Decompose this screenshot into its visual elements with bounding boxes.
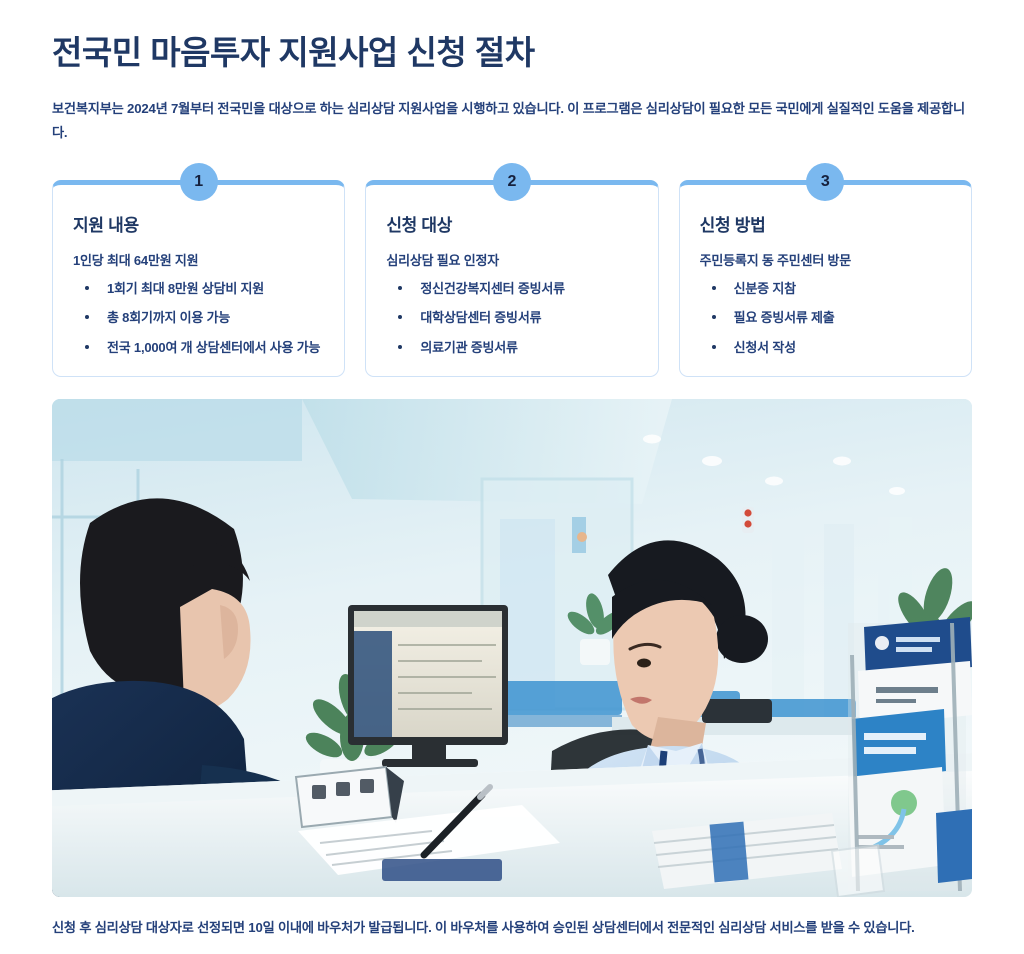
list-item: 1회기 최대 8만원 상담비 지원 [73, 281, 324, 297]
step-number-badge-3: 3 [806, 163, 844, 201]
step-title-2: 신청 대상 [386, 211, 637, 236]
steps-container: 1 지원 내용 1인당 최대 64만원 지원 1회기 최대 8만원 상담비 지원… [52, 180, 972, 377]
intro-paragraph: 보건복지부는 2024년 7월부터 전국민을 대상으로 하는 심리상담 지원사업… [52, 75, 972, 146]
counter-consultation-photo [52, 399, 972, 897]
photo-illustration [52, 399, 972, 897]
page-title: 전국민 마음투자 지원사업 신청 절차 [52, 0, 972, 75]
list-item: 의료기관 증빙서류 [386, 340, 637, 356]
step-list-2: 정신건강복지센터 증빙서류 대학상담센터 증빙서류 의료기관 증빙서류 [386, 281, 637, 356]
step-subtitle-3: 주민등록지 동 주민센터 방문 [700, 250, 951, 269]
step-card-3: 3 신청 방법 주민등록지 동 주민센터 방문 신분증 지참 필요 증빙서류 제… [679, 180, 972, 377]
step-card-2: 2 신청 대상 심리상담 필요 인정자 정신건강복지센터 증빙서류 대학상담센터… [365, 180, 658, 377]
page-root: 전국민 마음투자 지원사업 신청 절차 보건복지부는 2024년 7월부터 전국… [0, 0, 1024, 954]
step-subtitle-2: 심리상담 필요 인정자 [386, 250, 637, 269]
step-title-1: 지원 내용 [73, 211, 324, 236]
step-list-1: 1회기 최대 8만원 상담비 지원 총 8회기까지 이용 가능 전국 1,000… [73, 281, 324, 356]
step-title-3: 신청 방법 [700, 211, 951, 236]
list-item: 전국 1,000여 개 상담센터에서 사용 가능 [73, 340, 324, 356]
list-item: 정신건강복지센터 증빙서류 [386, 281, 637, 297]
desk-monitor [348, 605, 508, 767]
list-item: 대학상담센터 증빙서류 [386, 310, 637, 326]
step-number-badge-2: 2 [493, 163, 531, 201]
step-subtitle-1: 1인당 최대 64만원 지원 [73, 250, 324, 269]
list-item: 필요 증빙서류 제출 [700, 310, 951, 326]
list-item: 신청서 작성 [700, 340, 951, 356]
desk-nameplate [296, 767, 404, 827]
list-item: 총 8회기까지 이용 가능 [73, 310, 324, 326]
step-list-3: 신분증 지참 필요 증빙서류 제출 신청서 작성 [700, 281, 951, 356]
step-card-1: 1 지원 내용 1인당 최대 64만원 지원 1회기 최대 8만원 상담비 지원… [52, 180, 345, 377]
step-number-badge-1: 1 [180, 163, 218, 201]
footer-caption: 신청 후 심리상담 대상자로 선정되면 10일 이내에 바우처가 발급됩니다. … [52, 897, 972, 939]
list-item: 신분증 지참 [700, 281, 951, 297]
